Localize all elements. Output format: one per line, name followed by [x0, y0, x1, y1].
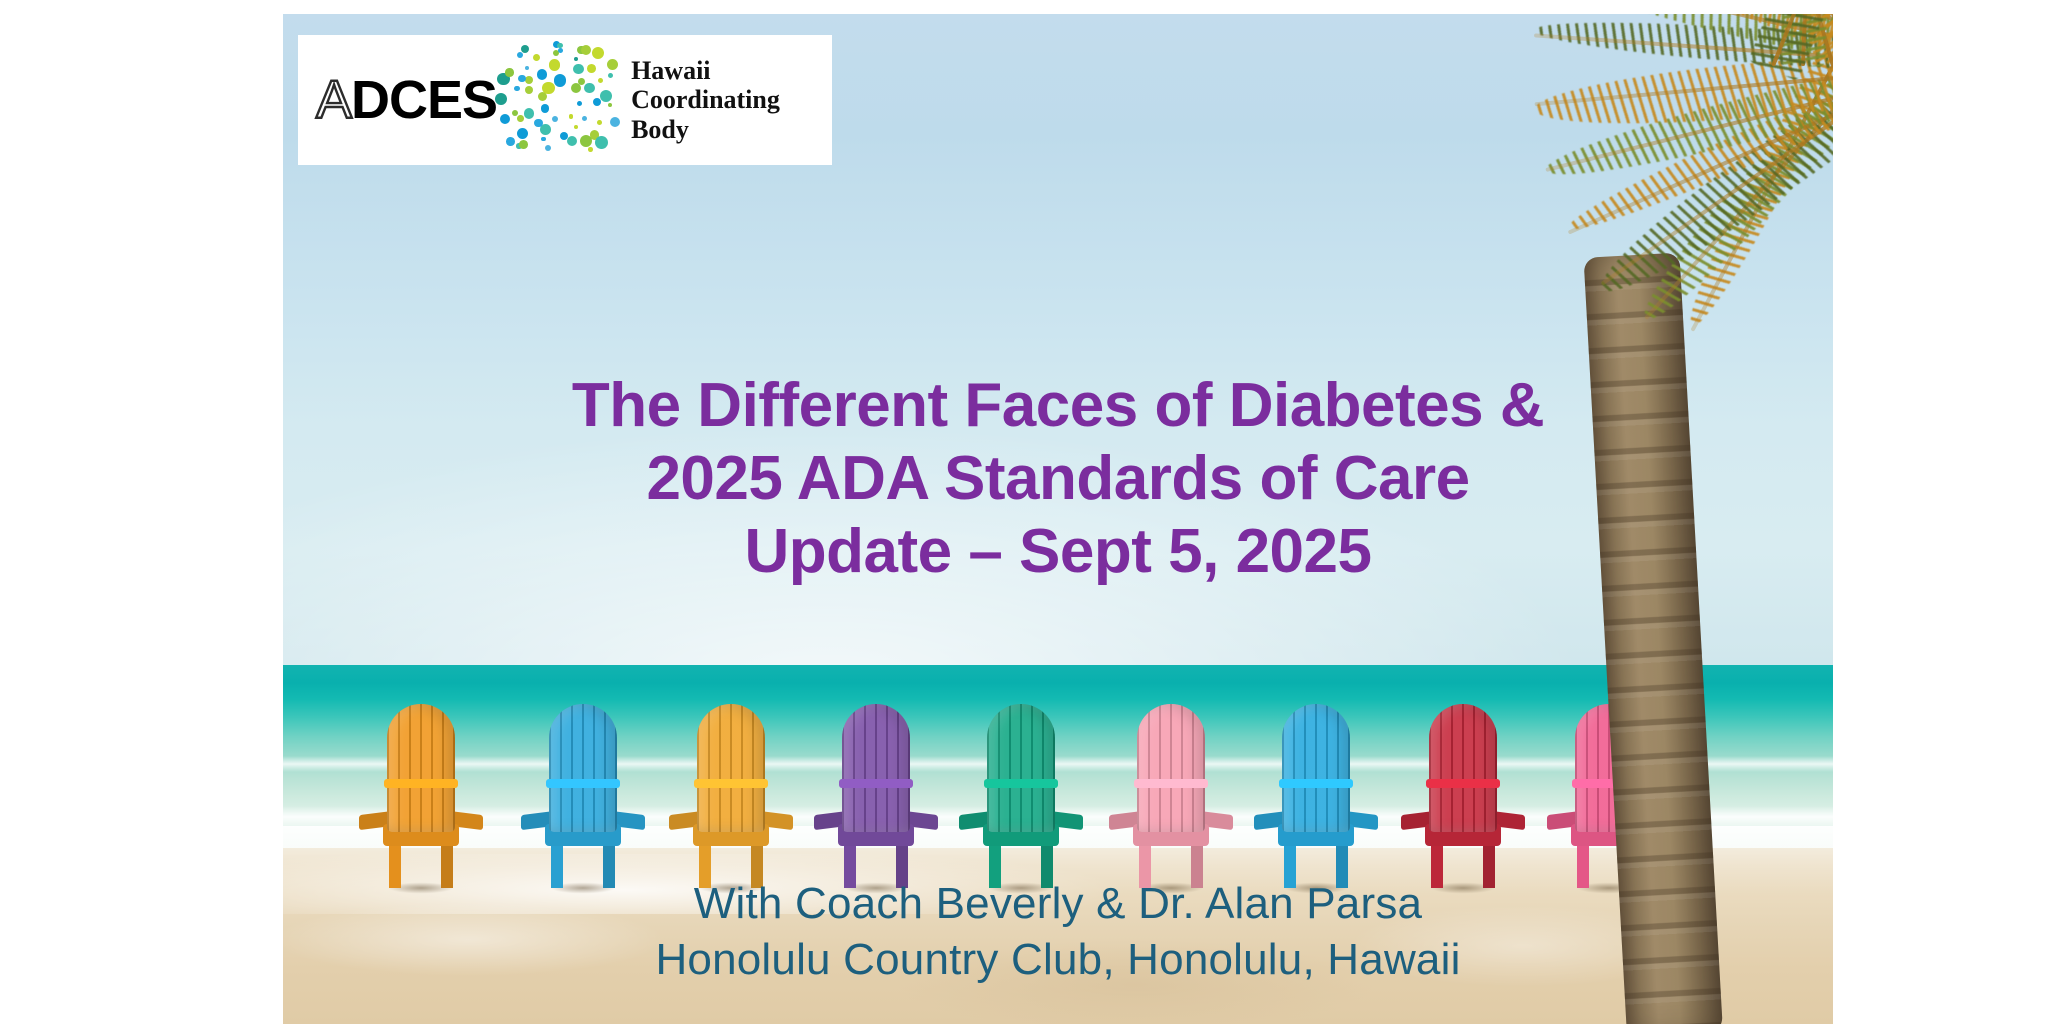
logo-dot: [505, 68, 513, 76]
logo-dot: [582, 116, 587, 121]
logo-dot: [567, 136, 577, 146]
chair-amber: [683, 704, 779, 884]
chair-rail: [1426, 779, 1500, 788]
chair-rail: [839, 779, 913, 788]
logo-dot: [597, 120, 602, 125]
chair-green: [973, 704, 1069, 884]
chair-rail: [384, 779, 458, 788]
logo-dot: [593, 98, 601, 106]
title-line-1: The Different Faces of Diabetes &: [283, 369, 1833, 442]
logo-dot: [534, 119, 542, 127]
chair-cyan: [1268, 704, 1364, 884]
logo-dot: [537, 69, 548, 80]
subtitle-presenters: With Coach Beverly & Dr. Alan Parsa: [283, 876, 1833, 932]
logo-dot: [541, 104, 549, 112]
logo-letter-a: A: [316, 70, 351, 130]
chair-rail: [1279, 779, 1353, 788]
logo-dot: [519, 140, 528, 149]
logo-dot: [578, 78, 585, 85]
chair-rail: [984, 779, 1058, 788]
logo-dot: [600, 90, 612, 102]
chair-red: [1415, 704, 1511, 884]
logo-dot: [506, 137, 515, 146]
logo-dot: [495, 93, 507, 105]
logo-dot: [558, 48, 563, 53]
chair-purple: [828, 704, 924, 884]
chair-rail: [1134, 779, 1208, 788]
logo-dot: [580, 135, 592, 147]
logo-dot: [595, 136, 608, 149]
logo-dot: [525, 86, 533, 94]
logo-dot: [573, 64, 584, 75]
chair-blue: [535, 704, 631, 884]
logo-dot: [588, 147, 593, 152]
adces-logo: ADCES Hawaii Coordinating Body: [298, 35, 832, 165]
logo-dot: [549, 59, 561, 71]
logo-org-name: Hawaii Coordinating Body: [631, 56, 780, 143]
logo-dot: [587, 64, 596, 73]
logo-dot: [525, 76, 533, 84]
logo-dot: [581, 45, 592, 56]
logo-dot: [500, 114, 510, 124]
logo-dot: [554, 74, 567, 87]
chair-pink: [1123, 704, 1219, 884]
screenshot-canvas: ADCES Hawaii Coordinating Body The Diffe…: [0, 0, 2048, 1024]
logo-dot: [557, 43, 562, 48]
logo-org-line-2: Coordinating: [631, 85, 780, 114]
title-line-2: 2025 ADA Standards of Care: [283, 442, 1833, 515]
slide-subtitle: With Coach Beverly & Dr. Alan Parsa Hono…: [283, 876, 1833, 989]
logo-org-line-1: Hawaii: [631, 56, 780, 85]
logo-dot: [524, 108, 534, 118]
slide-title: The Different Faces of Diabetes & 2025 A…: [283, 369, 1833, 588]
chair-slats: [1429, 704, 1497, 832]
logo-dot: [545, 145, 551, 151]
logo-dot: [608, 73, 613, 78]
logo-dot: [552, 116, 559, 123]
logo-dot: [592, 47, 604, 59]
logo-dot: [525, 66, 529, 70]
chair-slats: [697, 704, 765, 832]
adces-wordmark: ADCES: [316, 73, 497, 127]
logo-dot: [569, 114, 574, 119]
chair-slats: [987, 704, 1055, 832]
presentation-slide: ADCES Hawaii Coordinating Body The Diffe…: [283, 14, 1833, 1024]
chair-rail: [694, 779, 768, 788]
logo-dot: [541, 137, 546, 142]
logo-dot: [517, 128, 529, 140]
logo-dot: [598, 78, 603, 83]
logo-dot: [610, 117, 620, 127]
chair-slats: [387, 704, 455, 832]
logo-dot: [574, 125, 579, 130]
logo-dot: [518, 75, 526, 83]
logo-dot: [517, 115, 524, 122]
logo-dot: [577, 101, 582, 106]
title-line-3: Update – Sept 5, 2025: [283, 515, 1833, 588]
chair-orange: [373, 704, 469, 884]
logo-org-line-3: Body: [631, 115, 780, 144]
logo-dot: [607, 59, 618, 70]
logo-dot: [574, 57, 578, 61]
logo-dot: [608, 103, 612, 107]
chair-rail: [546, 779, 620, 788]
subtitle-venue: Honolulu Country Club, Honolulu, Hawaii: [283, 932, 1833, 988]
logo-dot-cluster-icon: [499, 43, 619, 157]
logo-dot: [514, 86, 519, 91]
logo-letters-dces: DCES: [351, 70, 497, 130]
logo-dot: [584, 83, 594, 93]
logo-dot: [521, 45, 529, 53]
logo-dot: [533, 54, 540, 61]
chair-slats: [1137, 704, 1205, 832]
chair-slats: [842, 704, 910, 832]
logo-dot: [542, 82, 554, 94]
chair-slats: [549, 704, 617, 832]
chair-slats: [1282, 704, 1350, 832]
